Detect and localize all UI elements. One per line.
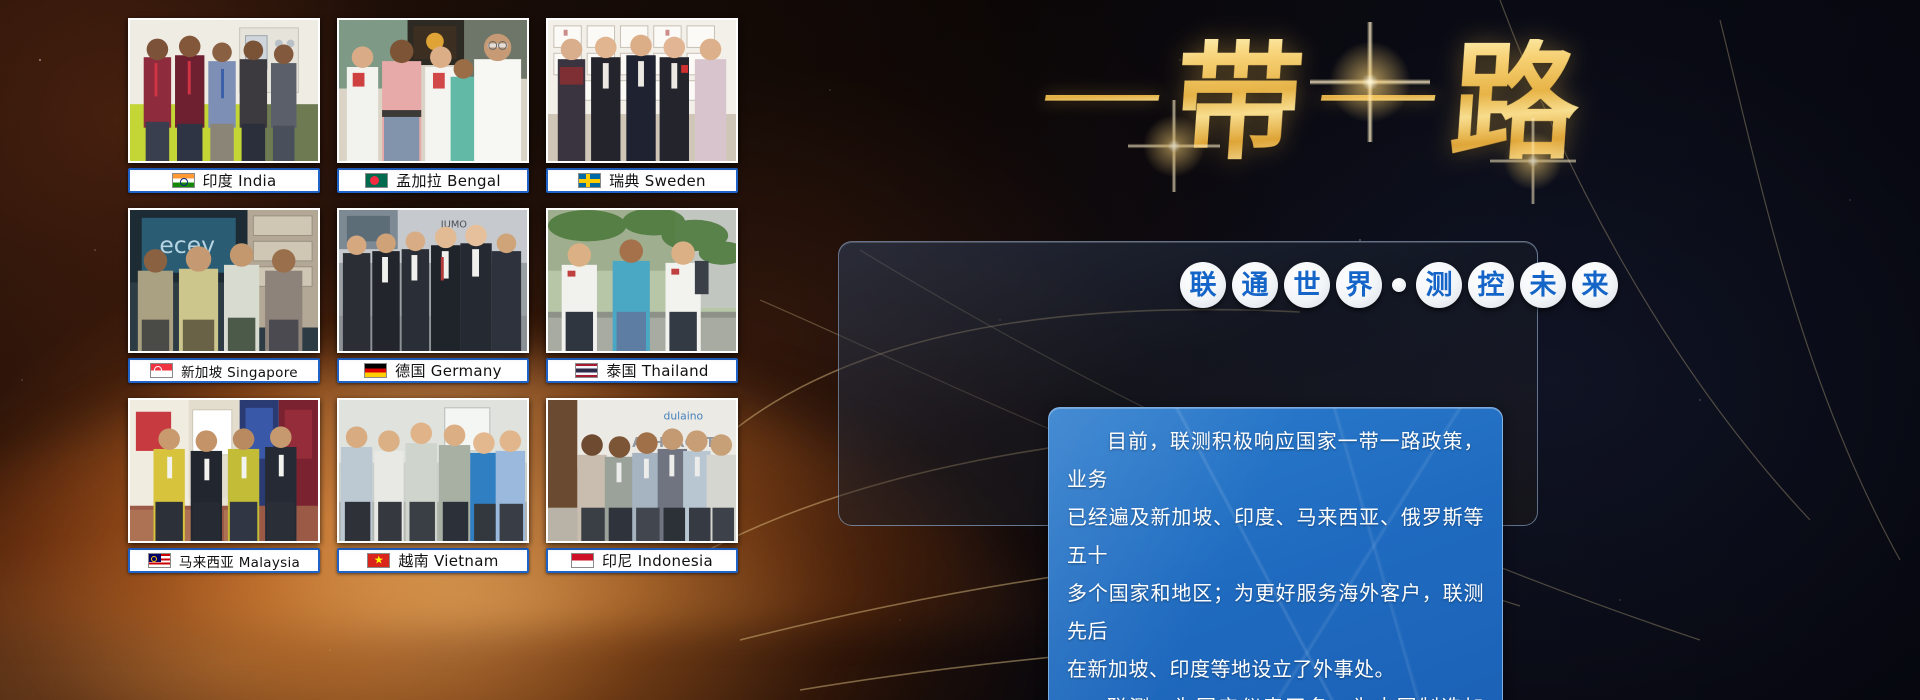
photo-indonesia: dulaino ASHCROFT <box>546 398 738 543</box>
label-text: 瑞典 Sweden <box>609 170 706 191</box>
photo-sweden <box>546 18 738 163</box>
headline-char-2: 带 <box>1171 39 1308 167</box>
svg-text:dulaino: dulaino <box>664 410 704 423</box>
gallery-item-bengal[interactable]: 孟加拉 Bengal <box>337 18 529 203</box>
photo-india <box>128 18 320 163</box>
gallery-item-sweden[interactable]: 瑞典 Sweden <box>546 18 738 203</box>
slogan-separator-dot <box>1392 278 1406 292</box>
malaysia-flag-icon <box>148 553 171 568</box>
label-sweden: 瑞典 Sweden <box>546 168 738 193</box>
slogan-bead: 来 <box>1572 262 1618 308</box>
label-malaysia: 马来西亚 Malaysia <box>128 548 320 573</box>
label-thailand: 泰国 Thailand <box>546 358 738 383</box>
label-text: 越南 Vietnam <box>398 550 498 571</box>
label-text: 印度 India <box>203 170 277 191</box>
slogan-bead: 联 <box>1180 262 1226 308</box>
label-india: 印度 India <box>128 168 320 193</box>
germany-flag-icon <box>364 363 387 378</box>
description-line-1: 目前，联测积极响应国家一带一路政策，业务 <box>1067 422 1484 498</box>
slogan-bead: 界 <box>1336 262 1382 308</box>
photo-singapore: ecev <box>128 208 320 353</box>
label-text: 德国 Germany <box>395 360 502 381</box>
sweden-flag-icon <box>578 173 601 188</box>
label-text: 新加坡 Singapore <box>181 361 298 381</box>
slogan-bead: 控 <box>1468 262 1514 308</box>
description-line-5: 联测，为国产仪表正名，为中国制造加分！ <box>1067 688 1484 700</box>
photo-germany: JUMO <box>337 208 529 353</box>
singapore-flag-icon <box>150 363 173 378</box>
label-vietnam: 越南 Vietnam <box>337 548 529 573</box>
gallery-item-malaysia[interactable]: 马来西亚 Malaysia <box>128 398 320 583</box>
headline-char-4: 路 <box>1447 39 1584 167</box>
slogan-bead: 通 <box>1232 262 1278 308</box>
photo-thailand <box>546 208 738 353</box>
photo-bengal <box>337 18 529 163</box>
description-box: 目前，联测积极响应国家一带一路政策，业务 已经遍及新加坡、印度、马来西亚、俄罗斯… <box>1048 407 1503 700</box>
label-germany: 德国 Germany <box>337 358 529 383</box>
label-singapore: 新加坡 Singapore <box>128 358 320 383</box>
slogan-bead: 未 <box>1520 262 1566 308</box>
thailand-flag-icon <box>575 363 598 378</box>
gallery-item-vietnam[interactable]: 越南 Vietnam <box>337 398 529 583</box>
india-flag-icon <box>172 173 195 188</box>
slogan-bead: 世 <box>1284 262 1330 308</box>
gallery-item-india[interactable]: 印度 India <box>128 18 320 203</box>
label-text: 泰国 Thailand <box>606 360 709 381</box>
gallery-item-germany[interactable]: JUMO <box>337 208 529 393</box>
vietnam-flag-icon <box>367 553 390 568</box>
label-text: 印尼 Indonesia <box>602 550 713 571</box>
gallery-item-singapore[interactable]: ecev <box>128 208 320 393</box>
photo-malaysia <box>128 398 320 543</box>
photo-vietnam <box>337 398 529 543</box>
headline-char-1: 一 <box>1037 75 1166 125</box>
company-slogan: 联 通 世 界 测 控 未 来 <box>1180 262 1618 308</box>
slogan-bead: 测 <box>1416 262 1462 308</box>
bangladesh-flag-icon <box>365 173 388 188</box>
page-title-calligraphy: 一 带 一 路 <box>1030 8 1590 198</box>
description-line-3: 多个国家和地区；为更好服务海外客户，联测先后 <box>1067 574 1484 650</box>
indonesia-flag-icon <box>571 553 594 568</box>
label-text: 孟加拉 Bengal <box>396 170 501 191</box>
label-indonesia: 印尼 Indonesia <box>546 548 738 573</box>
gallery-item-indonesia[interactable]: dulaino ASHCROFT <box>546 398 738 583</box>
label-text: 马来西亚 Malaysia <box>179 551 300 571</box>
label-bengal: 孟加拉 Bengal <box>337 168 529 193</box>
description-line-2: 已经遍及新加坡、印度、马来西亚、俄罗斯等五十 <box>1067 498 1484 574</box>
description-line-4: 在新加坡、印度等地设立了外事处。 <box>1067 650 1484 688</box>
headline-char-3: 一 <box>1313 75 1442 125</box>
gallery-item-thailand[interactable]: 泰国 Thailand <box>546 208 738 393</box>
country-photo-grid: 印度 India <box>128 18 758 583</box>
banner-stage: 印度 India <box>0 0 1920 700</box>
